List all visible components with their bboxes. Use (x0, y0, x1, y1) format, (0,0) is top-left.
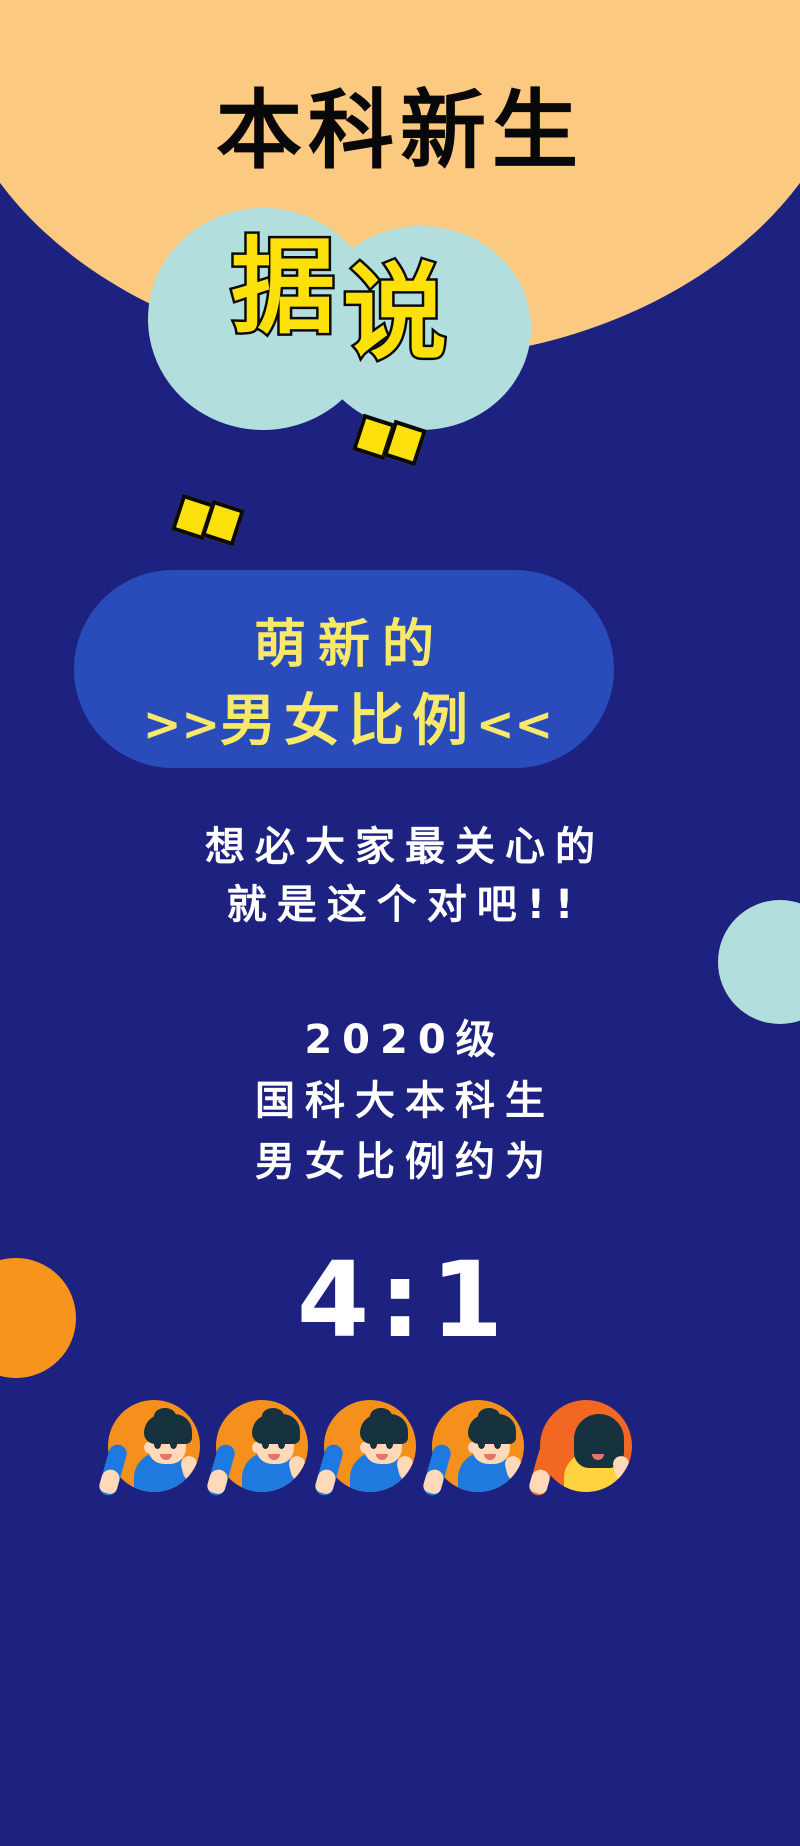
badge-char-1: 据 (231, 226, 343, 348)
stat-line-1: 2020级 (0, 1010, 800, 1071)
intro-text-block: 想必大家最关心的 就是这个对吧!! (0, 818, 800, 934)
avatar-eye (262, 1440, 269, 1449)
avatar-eye (478, 1440, 485, 1449)
avatar-eye (154, 1440, 161, 1449)
avatar-eye (494, 1440, 501, 1449)
avatar-student-male-1 (100, 1398, 202, 1500)
stat-line-3: 男女比例约为 (0, 1132, 800, 1193)
avatar-student-male-2 (208, 1398, 310, 1500)
avatar-pointing-hand-icon (528, 1468, 552, 1496)
pill-heading-line-1: 萌新的 (74, 602, 614, 677)
avatar-row (100, 1398, 700, 1518)
avatar-eye (602, 1440, 609, 1449)
stat-line-2: 国科大本科生 (0, 1071, 800, 1132)
avatar-student-male-3 (316, 1398, 418, 1500)
avatar-hair-tuft (262, 1408, 284, 1424)
stat-text-block: 2020级 国科大本科生 男女比例约为 (0, 1010, 800, 1192)
avatar-eye (170, 1440, 177, 1449)
intro-line-1: 想必大家最关心的 (0, 818, 800, 876)
avatar-pointing-hand-icon (314, 1468, 338, 1496)
quote-badge: 据说 (148, 200, 538, 430)
avatar-eye (386, 1440, 393, 1449)
intro-line-2: 就是这个对吧!! (0, 876, 800, 934)
avatar-eye (586, 1440, 593, 1449)
avatar-hair-tuft (154, 1408, 176, 1424)
avatar-pointing-hand-icon (422, 1468, 446, 1496)
avatar-eye (278, 1440, 285, 1449)
avatar-student-female-1 (532, 1398, 634, 1500)
poster-canvas: 本科新生 据说 萌新的 >>男女比例<< 想必大家最关心的 就是这个对吧!! 2… (0, 0, 800, 1846)
avatar-eye (370, 1440, 377, 1449)
avatar-hair-tuft (370, 1408, 392, 1424)
avatar-pointing-hand-icon (206, 1468, 230, 1496)
avatar-hair-tuft (478, 1408, 500, 1424)
avatar-pointing-hand-icon (98, 1468, 122, 1496)
badge-char-2: 说 (343, 256, 455, 370)
page-title: 本科新生 (0, 88, 800, 174)
ratio-value: 4:1 (0, 1248, 800, 1352)
pill-heading-line-2: >>男女比例<< (74, 676, 614, 757)
avatar-student-male-4 (424, 1398, 526, 1500)
badge-text: 据说 (148, 230, 538, 344)
section-heading-pill: 萌新的 >>男女比例<< (74, 570, 614, 768)
arrow-right-icon: << (476, 697, 553, 751)
pill-heading-text: 男女比例 (220, 689, 476, 754)
arrow-left-icon: >> (143, 697, 220, 751)
